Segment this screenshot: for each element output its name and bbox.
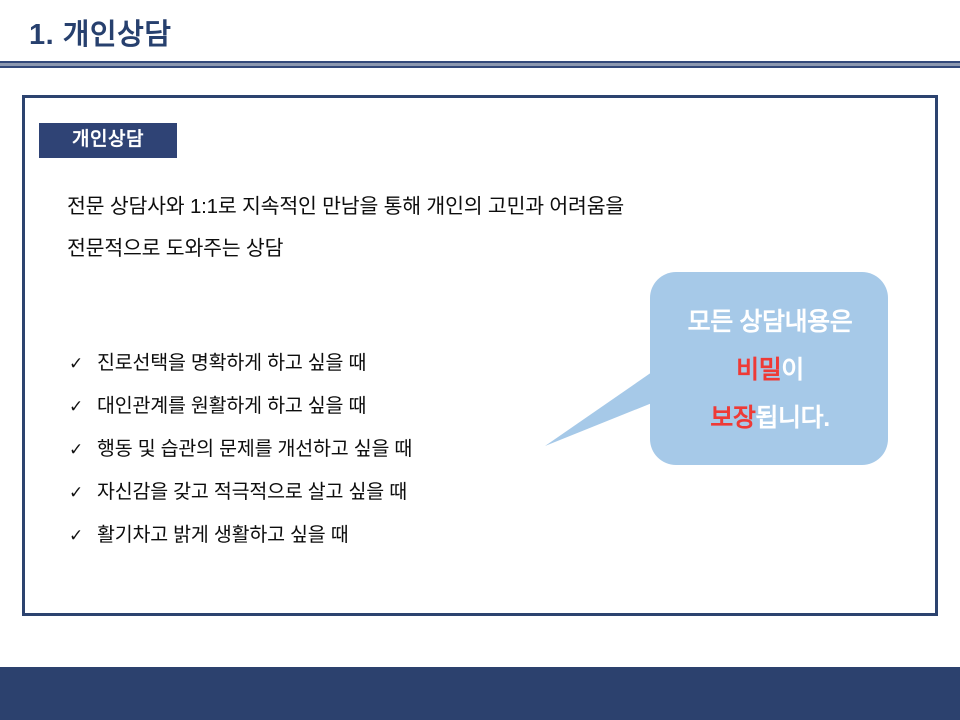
- title-divider-rule: [0, 61, 960, 68]
- list-item-label: 대인관계를 원활하게 하고 싶을 때: [97, 389, 366, 418]
- check-icon: ✓: [69, 355, 97, 372]
- list-item-label: 행동 및 습관의 문제를 개선하고 싶을 때: [97, 432, 412, 461]
- list-item: ✓ 자신감을 갖고 적극적으로 살고 싶을 때: [69, 475, 412, 518]
- check-icon: ✓: [69, 484, 97, 501]
- list-item-label: 활기차고 밝게 생활하고 싶을 때: [97, 518, 349, 547]
- slide-root: 1. 개인상담 개인상담 전문 상담사와 1:1로 지속적인 만남을 통해 개인…: [0, 0, 960, 720]
- list-item-label: 자신감을 갖고 적극적으로 살고 싶을 때: [97, 475, 407, 504]
- page-title: 1. 개인상담: [29, 19, 171, 52]
- section-badge: 개인상담: [39, 123, 177, 158]
- list-item: ✓ 대인관계를 원활하게 하고 싶을 때: [69, 389, 412, 432]
- check-icon: ✓: [69, 441, 97, 458]
- list-item-label: 진로선택을 명확하게 하고 싶을 때: [97, 346, 366, 375]
- bottom-bar: [0, 667, 960, 720]
- description-line-2: 전문적으로 도와주는 상담: [67, 228, 847, 270]
- check-icon: ✓: [69, 398, 97, 415]
- check-list: ✓ 진로선택을 명확하게 하고 싶을 때 ✓ 대인관계를 원활하게 하고 싶을 …: [69, 346, 412, 561]
- content-box: 개인상담 전문 상담사와 1:1로 지속적인 만남을 통해 개인의 고민과 어려…: [22, 95, 938, 616]
- list-item: ✓ 행동 및 습관의 문제를 개선하고 싶을 때: [69, 432, 412, 475]
- description-line-1: 전문 상담사와 1:1로 지속적인 만남을 통해 개인의 고민과 어려움을: [67, 186, 847, 228]
- description-block: 전문 상담사와 1:1로 지속적인 만남을 통해 개인의 고민과 어려움을 전문…: [67, 186, 847, 270]
- list-item: ✓ 진로선택을 명확하게 하고 싶을 때: [69, 346, 412, 389]
- list-item: ✓ 활기차고 밝게 생활하고 싶을 때: [69, 518, 412, 561]
- check-icon: ✓: [69, 527, 97, 544]
